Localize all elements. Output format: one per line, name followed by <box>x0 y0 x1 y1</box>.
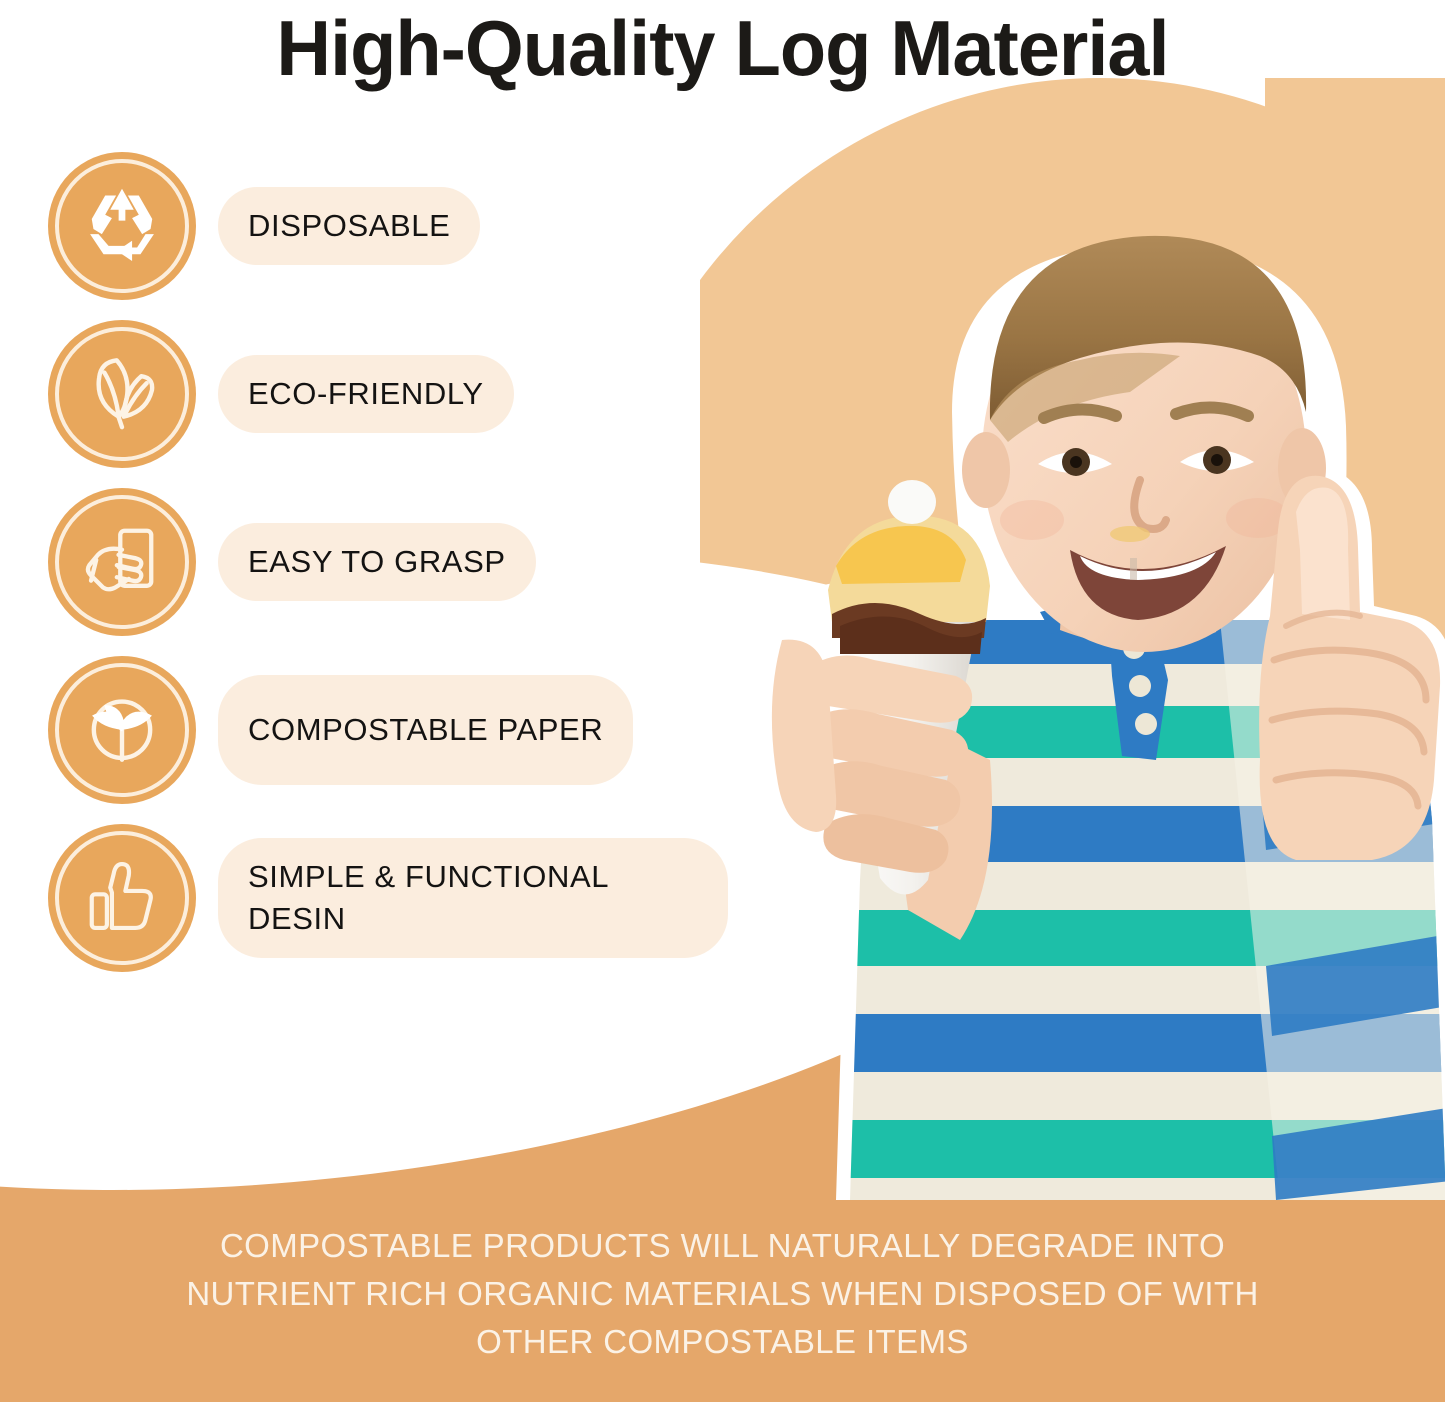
feature-item-easy-to-grasp[interactable]: EASY TO GRASP <box>48 488 728 636</box>
badge-circle <box>48 656 196 804</box>
feature-label-pill: ECO-FRIENDLY <box>218 355 514 433</box>
recycle-icon <box>80 182 164 271</box>
feature-item-simple-functional-design[interactable]: SIMPLE & FUNCTIONAL DESIN <box>48 824 728 972</box>
thumbs-up-icon <box>80 854 164 943</box>
badge-circle <box>48 152 196 300</box>
feature-label: COMPOSTABLE PAPER <box>248 709 603 751</box>
badge-circle <box>48 488 196 636</box>
feature-item-compostable-paper[interactable]: COMPOSTABLE PAPER <box>48 656 728 804</box>
feature-label: EASY TO GRASP <box>248 541 506 583</box>
page-title: High-Quality Log Material <box>22 0 1424 96</box>
feature-list: DISPOSABLE E <box>48 152 728 992</box>
footer-line-2: NUTRIENT RICH ORGANIC MATERIALS WHEN DIS… <box>120 1270 1325 1318</box>
feature-item-eco-friendly[interactable]: ECO-FRIENDLY <box>48 320 728 468</box>
infographic-canvas: High-Quality Log Material <box>0 0 1445 1402</box>
feature-item-disposable[interactable]: DISPOSABLE <box>48 152 728 300</box>
badge-circle <box>48 320 196 468</box>
sprout-icon <box>78 684 166 777</box>
feature-label-pill: SIMPLE & FUNCTIONAL DESIN <box>218 838 728 958</box>
feature-label-pill: DISPOSABLE <box>218 187 480 265</box>
feature-label-pill: EASY TO GRASP <box>218 523 536 601</box>
footer-line-1: COMPOSTABLE PRODUCTS WILL NATURALLY DEGR… <box>120 1222 1325 1270</box>
leaves-icon <box>78 348 166 441</box>
product-photo <box>660 120 1445 1200</box>
badge-circle <box>48 824 196 972</box>
feature-label: ECO-FRIENDLY <box>248 373 484 415</box>
feature-label-pill: COMPOSTABLE PAPER <box>218 675 633 785</box>
feature-label: SIMPLE & FUNCTIONAL DESIN <box>248 856 698 940</box>
footer-caption: COMPOSTABLE PRODUCTS WILL NATURALLY DEGR… <box>120 1222 1325 1366</box>
thumbs-up-hand <box>1259 476 1440 860</box>
footer-line-3: OTHER COMPOSTABLE ITEMS <box>120 1318 1325 1366</box>
feature-label: DISPOSABLE <box>248 205 450 247</box>
hand-cup-icon <box>79 517 165 608</box>
